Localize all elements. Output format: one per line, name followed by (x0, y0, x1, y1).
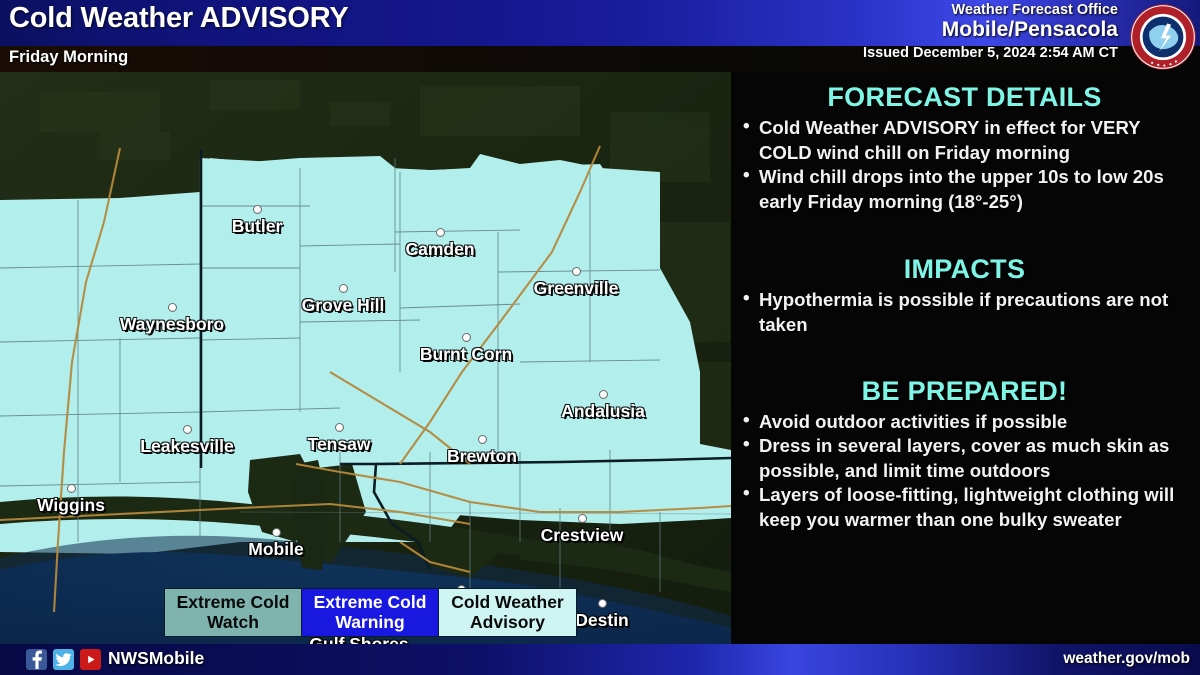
city-label: Tensaw (308, 434, 371, 455)
footer-bar: NWSMobile weather.gov/mob (0, 644, 1200, 675)
list-item: Cold Weather ADVISORY in effect for VERY… (739, 116, 1190, 165)
youtube-icon[interactable] (80, 649, 101, 670)
city-label: Waynesboro (120, 314, 224, 335)
map-svg (0, 72, 731, 644)
list-item: Wind chill drops into the upper 10s to l… (739, 165, 1190, 214)
list-item: Layers of loose-fitting, lightweight clo… (739, 483, 1190, 532)
city-label: Burnt Corn (420, 344, 512, 365)
website-url[interactable]: weather.gov/mob (1063, 650, 1190, 668)
legend-item-cold-weather-advisory: Cold Weather Advisory (439, 589, 576, 636)
forecast-map[interactable]: Butler Camden Greenville Waynesboro Grov… (0, 72, 731, 644)
legend-line1: Extreme Cold (308, 592, 432, 612)
legend-line2: Advisory (445, 612, 570, 632)
city-dot (168, 303, 177, 312)
facebook-icon[interactable] (26, 649, 47, 670)
city-label: Brewton (447, 446, 517, 467)
header-bar: Cold Weather ADVISORY Weather Forecast O… (0, 0, 1200, 46)
city-label: Mobile (248, 539, 303, 560)
section-heading-impacts: IMPACTS (739, 254, 1190, 285)
nws-logo-icon (1129, 3, 1197, 71)
city-dot (578, 514, 587, 523)
social-handle[interactable]: NWSMobile (108, 648, 204, 669)
legend-item-extreme-cold-watch: Extreme Cold Watch (165, 589, 302, 636)
city-label: Destin (575, 610, 628, 631)
legend-line1: Extreme Cold (171, 592, 295, 612)
office-block: Weather Forecast Office Mobile/Pensacola (942, 2, 1118, 41)
city-dot (183, 425, 192, 434)
city-label: Butler (232, 216, 283, 237)
legend-line2: Watch (171, 612, 295, 632)
city-dot (339, 284, 348, 293)
city-dot (67, 484, 76, 493)
city-label: Leakesville (140, 436, 233, 457)
city-dot (335, 423, 344, 432)
subtitle-text: Friday Morning (9, 48, 128, 67)
map-legend: Extreme Cold Watch Extreme Cold Warning … (164, 588, 577, 637)
section-heading-forecast-details: FORECAST DETAILS (739, 82, 1190, 113)
office-label: Weather Forecast Office (942, 2, 1118, 18)
city-label: Crestview (541, 525, 624, 546)
city-label: Grove Hill (302, 295, 385, 316)
office-name: Mobile/Pensacola (942, 18, 1118, 41)
city-dot (462, 333, 471, 342)
weather-advisory-graphic: Butler Camden Greenville Waynesboro Grov… (0, 0, 1200, 675)
city-dot (272, 528, 281, 537)
city-dot (572, 267, 581, 276)
forecast-details-list: Cold Weather ADVISORY in effect for VERY… (739, 116, 1190, 214)
city-label: Andalusia (561, 401, 645, 422)
legend-line1: Cold Weather (445, 592, 570, 612)
be-prepared-list: Avoid outdoor activities if possible Dre… (739, 410, 1190, 533)
city-label: Wiggins (37, 495, 105, 516)
legend-line2: Warning (308, 612, 432, 632)
legend-item-extreme-cold-warning: Extreme Cold Warning (302, 589, 439, 636)
city-dot (478, 435, 487, 444)
section-heading-be-prepared: BE PREPARED! (739, 376, 1190, 407)
page-title: Cold Weather ADVISORY (9, 2, 349, 35)
issued-timestamp: Issued December 5, 2024 2:54 AM CT (863, 45, 1118, 61)
city-label: Camden (405, 239, 474, 260)
city-dot (436, 228, 445, 237)
city-dot (598, 599, 607, 608)
city-dot (253, 205, 262, 214)
list-item: Avoid outdoor activities if possible (739, 410, 1190, 435)
city-dot (599, 390, 608, 399)
list-item: Dress in several layers, cover as much s… (739, 434, 1190, 483)
impacts-list: Hypothermia is possible if precautions a… (739, 288, 1190, 337)
list-item: Hypothermia is possible if precautions a… (739, 288, 1190, 337)
twitter-icon[interactable] (53, 649, 74, 670)
info-panel: FORECAST DETAILS Cold Weather ADVISORY i… (731, 72, 1200, 644)
city-label: Greenville (534, 278, 619, 299)
